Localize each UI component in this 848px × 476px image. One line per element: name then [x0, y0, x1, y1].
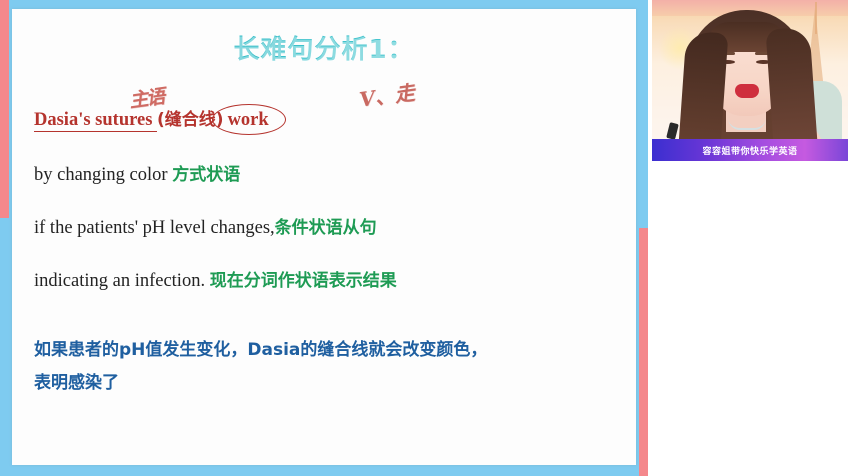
frame-accent-right-pink	[639, 228, 648, 476]
handwritten-subject-annotation: 主语	[127, 82, 164, 113]
handwritten-verb-annotation: V、走	[357, 76, 416, 112]
sentence-line-3: if the patients' pH level changes,条件状语从句	[34, 213, 622, 239]
video-banner-text: 容容姐带你快乐学英语	[702, 144, 797, 157]
sentence-line-2: by changing color 方式状语	[34, 160, 622, 186]
teacher-webcam-video[interactable]: 容容姐带你快乐学英语	[652, 0, 848, 161]
grammar-label-conditional-clause: 条件状语从句	[275, 218, 377, 238]
translation-line-1: 如果患者的pH值发生变化，Dasia的缝合线就会改变颜色，	[34, 334, 622, 367]
video-panel: 容容姐带你快乐学英语	[648, 0, 848, 476]
slide-content-area: 长难句分析1： 主语 V、走 Dasia's sutures (缝合线)work…	[12, 9, 636, 465]
sentence-line-4-english: indicating an infection.	[34, 271, 210, 291]
presenter-necklace	[728, 118, 766, 130]
lesson-slide-screen: 长难句分析1： 主语 V、走 Dasia's sutures (缝合线)work…	[0, 0, 848, 476]
presenter-lips	[735, 84, 759, 98]
sentence-subject-text: Dasia's sutures	[34, 110, 157, 132]
slide-title: 长难句分析1：	[12, 29, 636, 66]
video-lower-third-banner: 容容姐带你快乐学英语	[652, 139, 848, 161]
sentence-line-2-english: by changing color	[34, 165, 172, 185]
slide-frame: 长难句分析1： 主语 V、走 Dasia's sutures (缝合线)work…	[0, 0, 648, 476]
sentence-verb-circled: work	[224, 110, 273, 131]
sentence-analysis-block: 主语 V、走 Dasia's sutures (缝合线)work by chan…	[34, 105, 622, 400]
sentence-chinese-gloss: (缝合线)	[157, 110, 224, 130]
translation-line-2: 表明感染了	[34, 367, 622, 400]
grammar-label-manner-adverbial: 方式状语	[172, 165, 240, 185]
grammar-label-participle-result: 现在分词作状语表示结果	[210, 271, 397, 291]
sentence-line-3-english: if the patients' pH level changes,	[34, 218, 275, 238]
presenter-figure	[652, 0, 848, 161]
presenter-wristband	[666, 122, 679, 140]
sentence-line-1: 主语 V、走 Dasia's sutures (缝合线)work	[34, 105, 622, 131]
sentence-line-4: indicating an infection. 现在分词作状语表示结果	[34, 266, 622, 292]
frame-accent-left-pink	[0, 0, 9, 218]
sentence-verb-text: work	[228, 110, 269, 130]
